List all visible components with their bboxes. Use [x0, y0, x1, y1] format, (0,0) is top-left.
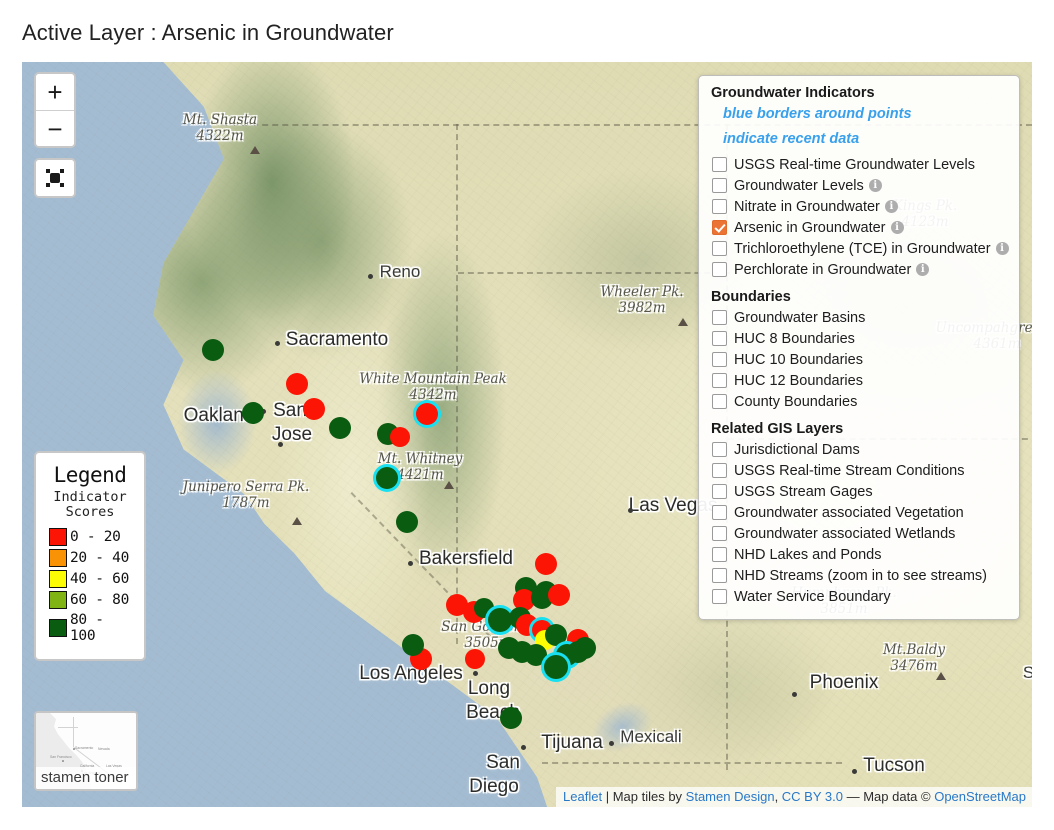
layer-group-title: Related GIS Layers [711, 421, 1009, 437]
checkbox-unchecked[interactable] [712, 241, 727, 256]
layer-group: Related GIS LayersJurisdictional DamsUSG… [709, 421, 1009, 607]
checkbox-unchecked[interactable] [712, 505, 727, 520]
legend-entry: 60 - 80 [49, 591, 135, 609]
layer-item-label: Groundwater associated Vegetation [734, 505, 964, 521]
checkbox-unchecked[interactable] [712, 394, 727, 409]
layer-item-label: USGS Stream Gages [734, 484, 873, 500]
leaflet-link[interactable]: Leaflet [563, 789, 602, 804]
recent-data-note-line1: blue borders around points [723, 104, 1009, 125]
layer-item-huc-10-boundaries[interactable]: HUC 10 Boundaries [709, 349, 1009, 370]
checkbox-unchecked[interactable] [712, 352, 727, 367]
checkbox-unchecked[interactable] [712, 547, 727, 562]
layer-item-nitrate-in-groundwater[interactable]: Nitrate in Groundwateri [709, 196, 1009, 217]
map-peak-marker [292, 517, 302, 525]
state-boundary-line [456, 124, 458, 644]
minimap-border [58, 727, 78, 728]
attribution-sep: , [775, 789, 782, 804]
layer-item-usgs-real-time-groundwater-levels[interactable]: USGS Real-time Groundwater Levels [709, 154, 1009, 175]
info-icon[interactable]: i [916, 263, 929, 276]
layer-item-county-boundaries[interactable]: County Boundaries [709, 391, 1009, 412]
arsenic-data-point[interactable] [416, 403, 438, 425]
arsenic-data-point[interactable] [396, 511, 418, 533]
layer-item-huc-12-boundaries[interactable]: HUC 12 Boundaries [709, 370, 1009, 391]
layer-item-arsenic-in-groundwater[interactable]: Arsenic in Groundwateri [709, 217, 1009, 238]
arsenic-data-point[interactable] [545, 624, 567, 646]
map-city-dot [368, 274, 373, 279]
checkbox-unchecked[interactable] [712, 568, 727, 583]
minimap-label: Sacramento [75, 746, 93, 750]
legend-entry: 80 - 100 [49, 612, 135, 644]
layer-item-label: Nitrate in Groundwater [734, 199, 880, 215]
arsenic-data-point[interactable] [535, 553, 557, 575]
legend-subtitle-line1: Indicator [45, 490, 135, 506]
arsenic-data-point[interactable] [329, 417, 351, 439]
legend-entry: 40 - 60 [49, 570, 135, 588]
layer-item-label: NHD Streams (zoom in to see streams) [734, 568, 987, 584]
layer-item-label: Trichloroethylene (TCE) in Groundwater [734, 241, 991, 257]
map-city-dot [473, 671, 478, 676]
minimap-label: San Francisco [50, 755, 72, 759]
layer-item-groundwater-associated-wetlands[interactable]: Groundwater associated Wetlands [709, 523, 1009, 544]
layer-group-title: Groundwater Indicators [711, 85, 1009, 101]
legend-title: Legend [45, 463, 135, 487]
minimap-border [73, 717, 74, 747]
legend-entry: 0 - 20 [49, 528, 135, 546]
layer-item-label: Groundwater Levels [734, 178, 864, 194]
layer-item-groundwater-basins[interactable]: Groundwater Basins [709, 307, 1009, 328]
zoom-control[interactable]: + − [34, 72, 76, 148]
checkbox-unchecked[interactable] [712, 484, 727, 499]
map-city-dot [521, 745, 526, 750]
arsenic-data-point[interactable] [242, 402, 264, 424]
basemap-switcher-thumbnail[interactable]: Sacramento Nevada California San Francis… [34, 711, 138, 791]
recent-data-note-line2: indicate recent data [723, 129, 1009, 150]
minimap-city-dot [62, 760, 64, 762]
layer-item-label: Jurisdictional Dams [734, 442, 860, 458]
layer-item-groundwater-associated-vegetation[interactable]: Groundwater associated Vegetation [709, 502, 1009, 523]
map-city-dot [275, 341, 280, 346]
checkbox-unchecked[interactable] [712, 178, 727, 193]
checkbox-unchecked[interactable] [712, 310, 727, 325]
layer-group: Groundwater Indicatorsblue borders aroun… [709, 85, 1009, 280]
info-icon[interactable]: i [891, 221, 904, 234]
layer-item-water-service-boundary[interactable]: Water Service Boundary [709, 586, 1009, 607]
layer-item-groundwater-levels[interactable]: Groundwater Levelsi [709, 175, 1009, 196]
legend-swatch [49, 619, 67, 637]
info-icon[interactable]: i [885, 200, 898, 213]
state-boundary-line [458, 272, 730, 274]
legend-label: 20 - 40 [70, 550, 129, 566]
layer-item-nhd-lakes-and-ponds[interactable]: NHD Lakes and Ponds [709, 544, 1009, 565]
checkbox-unchecked[interactable] [712, 262, 727, 277]
arsenic-data-point[interactable] [402, 634, 424, 656]
arsenic-data-point[interactable] [202, 339, 224, 361]
arsenic-data-point[interactable] [567, 641, 589, 663]
layer-group: BoundariesGroundwater BasinsHUC 8 Bounda… [709, 289, 1009, 412]
map-peak-marker [444, 481, 454, 489]
stamen-link[interactable]: Stamen Design [686, 789, 775, 804]
layer-item-label: USGS Real-time Stream Conditions [734, 463, 964, 479]
layer-item-usgs-real-time-stream-conditions[interactable]: USGS Real-time Stream Conditions [709, 460, 1009, 481]
map-peak-marker [250, 146, 260, 154]
map-peak-marker [936, 672, 946, 680]
minimap-label: Nevada [98, 747, 110, 751]
layer-item-label: HUC 8 Boundaries [734, 331, 855, 347]
checkbox-unchecked[interactable] [712, 157, 727, 172]
map-city-dot [792, 692, 797, 697]
arsenic-data-point[interactable] [465, 649, 485, 669]
layer-item-usgs-stream-gages[interactable]: USGS Stream Gages [709, 481, 1009, 502]
layer-item-label: Perchlorate in Groundwater [734, 262, 911, 278]
layer-item-perchlorate-in-groundwater[interactable]: Perchlorate in Groundwateri [709, 259, 1009, 280]
arsenic-data-point[interactable] [548, 584, 570, 606]
arsenic-data-point[interactable] [390, 427, 410, 447]
layer-item-label: Arsenic in Groundwater [734, 220, 886, 236]
legend-label: 80 - 100 [70, 612, 135, 644]
legend-subtitle: Indicator Scores [45, 490, 135, 521]
layer-item-label: Groundwater Basins [734, 310, 865, 326]
layer-item-nhd-streams-zoom-in-to-see-streams[interactable]: NHD Streams (zoom in to see streams) [709, 565, 1009, 586]
page-title: Active Layer : Arsenic in Groundwater [22, 20, 394, 46]
checkbox-unchecked[interactable] [712, 331, 727, 346]
map-controls[interactable]: + − [34, 72, 76, 198]
arsenic-data-point[interactable] [500, 707, 522, 729]
legend-swatch [49, 591, 67, 609]
layer-item-label: NHD Lakes and Ponds [734, 547, 882, 563]
zoom-in-button[interactable]: + [36, 74, 74, 110]
fullscreen-control[interactable] [34, 158, 76, 198]
license-link[interactable]: CC BY 3.0 [782, 789, 843, 804]
layer-item-label: HUC 10 Boundaries [734, 352, 863, 368]
zoom-out-button[interactable]: − [36, 110, 74, 146]
legend-label: 60 - 80 [70, 592, 129, 608]
checkbox-unchecked[interactable] [712, 463, 727, 478]
fullscreen-button[interactable] [36, 160, 74, 196]
arsenic-data-point[interactable] [544, 655, 568, 679]
checkbox-unchecked[interactable] [712, 589, 727, 604]
map-city-dot [278, 442, 283, 447]
layer-item-label: USGS Real-time Groundwater Levels [734, 157, 975, 173]
layer-item-label: Water Service Boundary [734, 589, 891, 605]
layer-item-label: HUC 12 Boundaries [734, 373, 863, 389]
map-canvas[interactable]: RenoSacramentoOaklandSanJoseLas VegasBak… [22, 62, 1032, 807]
layer-item-huc-8-boundaries[interactable]: HUC 8 Boundaries [709, 328, 1009, 349]
info-icon[interactable]: i [996, 242, 1009, 255]
openstreetmap-link[interactable]: OpenStreetMap [934, 789, 1026, 804]
info-icon[interactable]: i [869, 179, 882, 192]
legend-label: 0 - 20 [70, 529, 121, 545]
fullscreen-icon [45, 168, 65, 188]
state-boundary-line [542, 762, 842, 764]
layer-item-jurisdictional-dams[interactable]: Jurisdictional Dams [709, 439, 1009, 460]
checkbox-unchecked[interactable] [712, 199, 727, 214]
attribution-sep: | Map tiles by [602, 789, 686, 804]
map-city-dot [609, 741, 614, 746]
legend-swatch [49, 570, 67, 588]
checkbox-unchecked[interactable] [712, 373, 727, 388]
arsenic-data-point[interactable] [303, 398, 325, 420]
layer-group-title: Boundaries [711, 289, 1009, 305]
legend-label: 40 - 60 [70, 571, 129, 587]
map-city-dot [408, 561, 413, 566]
map-city-dot [852, 769, 857, 774]
layer-item-label: County Boundaries [734, 394, 857, 410]
attribution-sep: — Map data © [843, 789, 934, 804]
legend-swatch [49, 549, 67, 567]
map-peak-marker [678, 318, 688, 326]
legend-entries: 0 - 2020 - 4040 - 6060 - 8080 - 100 [45, 528, 135, 644]
layer-control-panel[interactable]: Groundwater Indicatorsblue borders aroun… [698, 75, 1020, 620]
map-city-dot [628, 508, 633, 513]
legend-panel: Legend Indicator Scores 0 - 2020 - 4040 … [34, 451, 146, 661]
checkbox-unchecked[interactable] [712, 526, 727, 541]
arsenic-data-point[interactable] [376, 467, 398, 489]
legend-entry: 20 - 40 [49, 549, 135, 567]
basemap-name: stamen toner [36, 767, 136, 789]
checkbox-checked[interactable] [712, 220, 727, 235]
arsenic-data-point[interactable] [286, 373, 308, 395]
checkbox-unchecked[interactable] [712, 442, 727, 457]
map-attribution: Leaflet | Map tiles by Stamen Design, CC… [556, 787, 1032, 807]
legend-swatch [49, 528, 67, 546]
layer-item-label: Groundwater associated Wetlands [734, 526, 955, 542]
layer-item-trichloroethylene-tce-in-groundwater[interactable]: Trichloroethylene (TCE) in Groundwateri [709, 238, 1009, 259]
legend-subtitle-line2: Scores [45, 505, 135, 521]
